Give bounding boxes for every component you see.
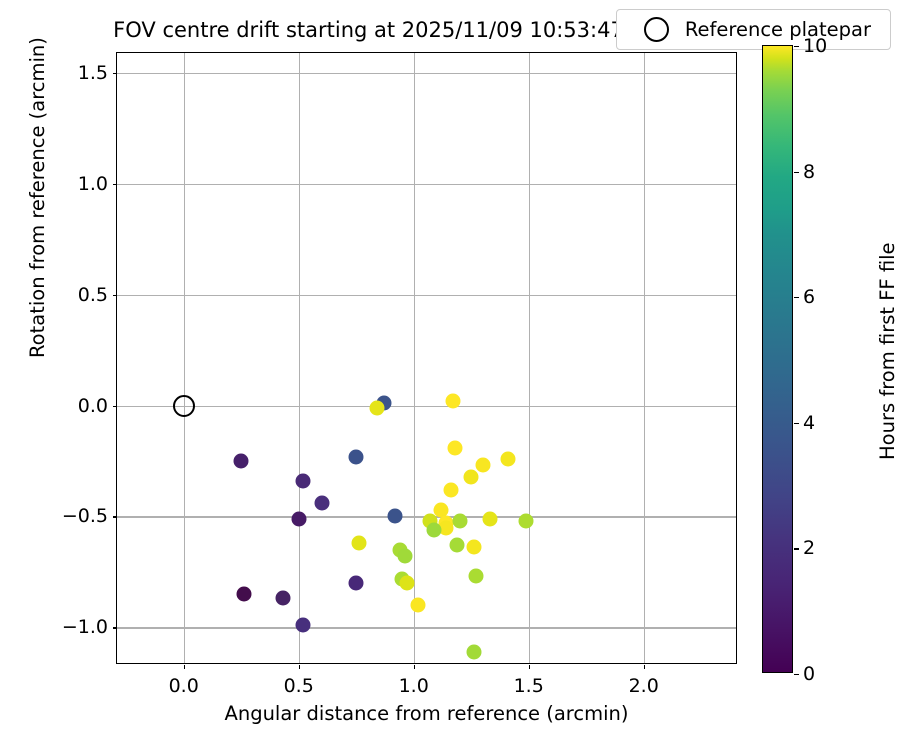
y-axis-tick	[113, 73, 117, 74]
scatter-point	[291, 511, 306, 526]
x-gridline	[644, 53, 645, 663]
scatter-point	[399, 575, 414, 590]
x-axis-tick	[414, 665, 415, 669]
colorbar-tick	[794, 297, 799, 298]
y-axis-tick-label: 1.0	[78, 173, 108, 195]
scatter-point	[349, 449, 364, 464]
colorbar-tick-label: 10	[803, 35, 827, 57]
colorbar-tick-label: 8	[803, 161, 815, 183]
y-axis-tick	[113, 516, 117, 517]
colorbar-tick	[794, 172, 799, 173]
scatter-point	[369, 400, 384, 415]
scatter-point	[452, 513, 467, 528]
scatter-point	[411, 598, 426, 613]
x-axis-tick	[184, 665, 185, 669]
scatter-point	[448, 440, 463, 455]
x-gridline	[184, 53, 185, 663]
plot-area: 0.00.51.01.52.01.51.00.50.0−0.5−1.0	[116, 52, 737, 664]
scatter-point	[443, 482, 458, 497]
colorbar: 0246810	[762, 45, 793, 673]
x-axis-tick-label: 2.0	[629, 675, 659, 697]
x-axis-tick-label: 1.5	[514, 675, 544, 697]
colorbar-tick-label: 0	[803, 663, 815, 685]
scatter-point	[314, 496, 329, 511]
legend-label: Reference platepar	[685, 18, 871, 41]
y-axis-label: Rotation from reference (arcmin)	[26, 37, 49, 358]
y-gridline	[117, 406, 736, 407]
colorbar-tick	[794, 46, 799, 47]
y-axis-tick	[113, 406, 117, 407]
y-axis-tick-label: 1.5	[78, 62, 108, 84]
y-axis-tick-label: 0.0	[78, 395, 108, 417]
colorbar-tick-label: 4	[803, 412, 815, 434]
scatter-point	[445, 394, 460, 409]
scatter-point	[275, 591, 290, 606]
colorbar-tick	[794, 423, 799, 424]
x-gridline	[299, 53, 300, 663]
y-gridline	[117, 184, 736, 185]
scatter-point	[296, 618, 311, 633]
scatter-point	[475, 458, 490, 473]
y-gridline	[117, 627, 736, 628]
x-axis-tick	[529, 665, 530, 669]
x-axis-tick-label: 1.0	[399, 675, 429, 697]
colorbar-tick	[794, 674, 799, 675]
figure-canvas: FOV centre drift starting at 2025/11/09 …	[0, 0, 900, 750]
legend-marker-icon	[644, 17, 669, 42]
y-axis-tick	[113, 295, 117, 296]
x-gridline	[414, 53, 415, 663]
scatter-point	[466, 540, 481, 555]
scatter-point	[236, 587, 251, 602]
y-axis-tick-label: −0.5	[62, 505, 108, 527]
y-axis-tick-label: −1.0	[62, 616, 108, 638]
x-axis-tick	[299, 665, 300, 669]
scatter-point	[466, 644, 481, 659]
scatter-point	[349, 575, 364, 590]
x-axis-label: Angular distance from reference (arcmin)	[116, 702, 737, 725]
scatter-point	[450, 538, 465, 553]
scatter-point	[427, 522, 442, 537]
scatter-point	[397, 549, 412, 564]
scatter-point	[482, 511, 497, 526]
colorbar-tick-label: 6	[803, 286, 815, 308]
y-axis-tick-label: 0.5	[78, 284, 108, 306]
scatter-point	[296, 473, 311, 488]
scatter-point	[501, 451, 516, 466]
y-gridline	[117, 295, 736, 296]
legend[interactable]: Reference platepar	[616, 9, 891, 50]
scatter-point	[464, 469, 479, 484]
x-axis-tick	[644, 665, 645, 669]
x-axis-tick-label: 0.0	[169, 675, 199, 697]
y-gridline	[117, 73, 736, 74]
scatter-point	[468, 569, 483, 584]
scatter-point	[351, 536, 366, 551]
x-axis-tick-label: 0.5	[284, 675, 314, 697]
y-axis-tick	[113, 184, 117, 185]
colorbar-tick-label: 2	[803, 537, 815, 559]
scatter-point	[519, 513, 534, 528]
x-gridline	[529, 53, 530, 663]
scatter-point	[234, 454, 249, 469]
reference-platepar-marker	[173, 395, 195, 417]
scatter-point	[388, 509, 403, 524]
colorbar-tick	[794, 548, 799, 549]
colorbar-label: Hours from first FF file	[876, 242, 899, 460]
y-axis-tick	[113, 627, 117, 628]
